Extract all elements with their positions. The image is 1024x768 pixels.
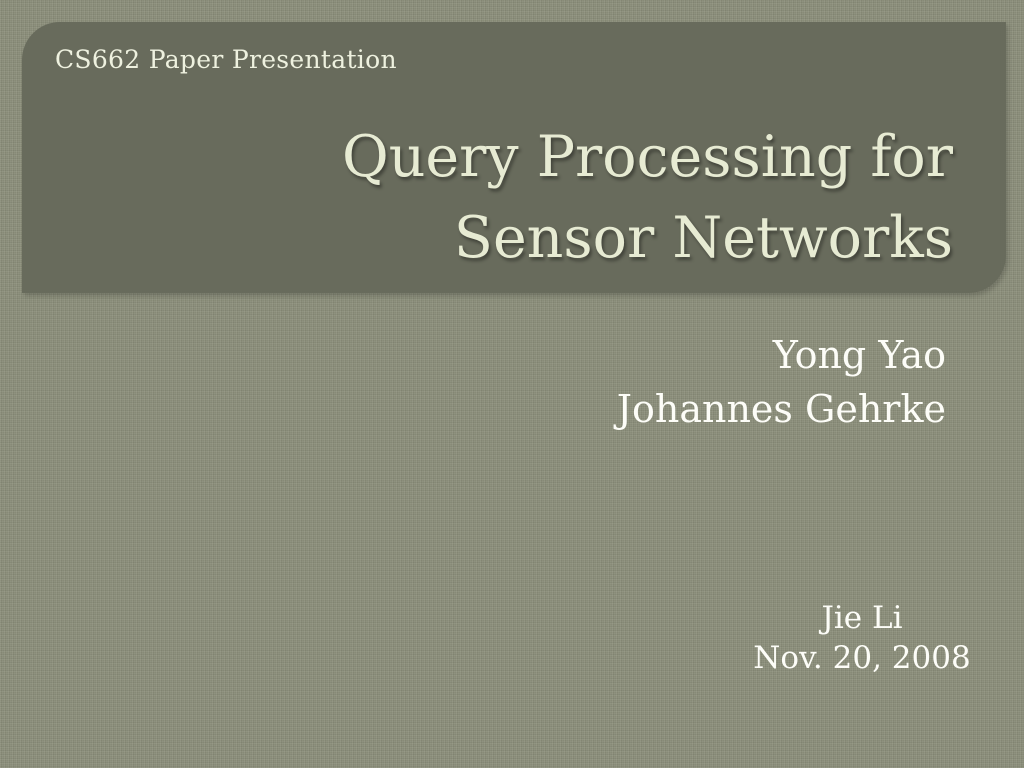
slide-eyebrow-label: CS662 Paper Presentation: [55, 45, 397, 74]
author-list: Yong Yao Johannes Gehrke: [617, 328, 946, 436]
presenter-name: Jie Li: [672, 598, 1024, 638]
author-name-1: Yong Yao: [617, 328, 946, 382]
author-name-2: Johannes Gehrke: [617, 382, 946, 436]
page-title-line-2: Sensor Networks: [153, 198, 953, 279]
presentation-date: Nov. 20, 2008: [672, 638, 1024, 678]
page-title: Query Processing for Sensor Networks: [153, 117, 953, 279]
presenter-block: Jie Li Nov. 20, 2008: [672, 598, 1024, 678]
page-title-line-1: Query Processing for: [153, 117, 953, 198]
presentation-slide: CS662 Paper Presentation Query Processin…: [0, 0, 1024, 768]
title-panel: CS662 Paper Presentation Query Processin…: [22, 22, 1006, 293]
